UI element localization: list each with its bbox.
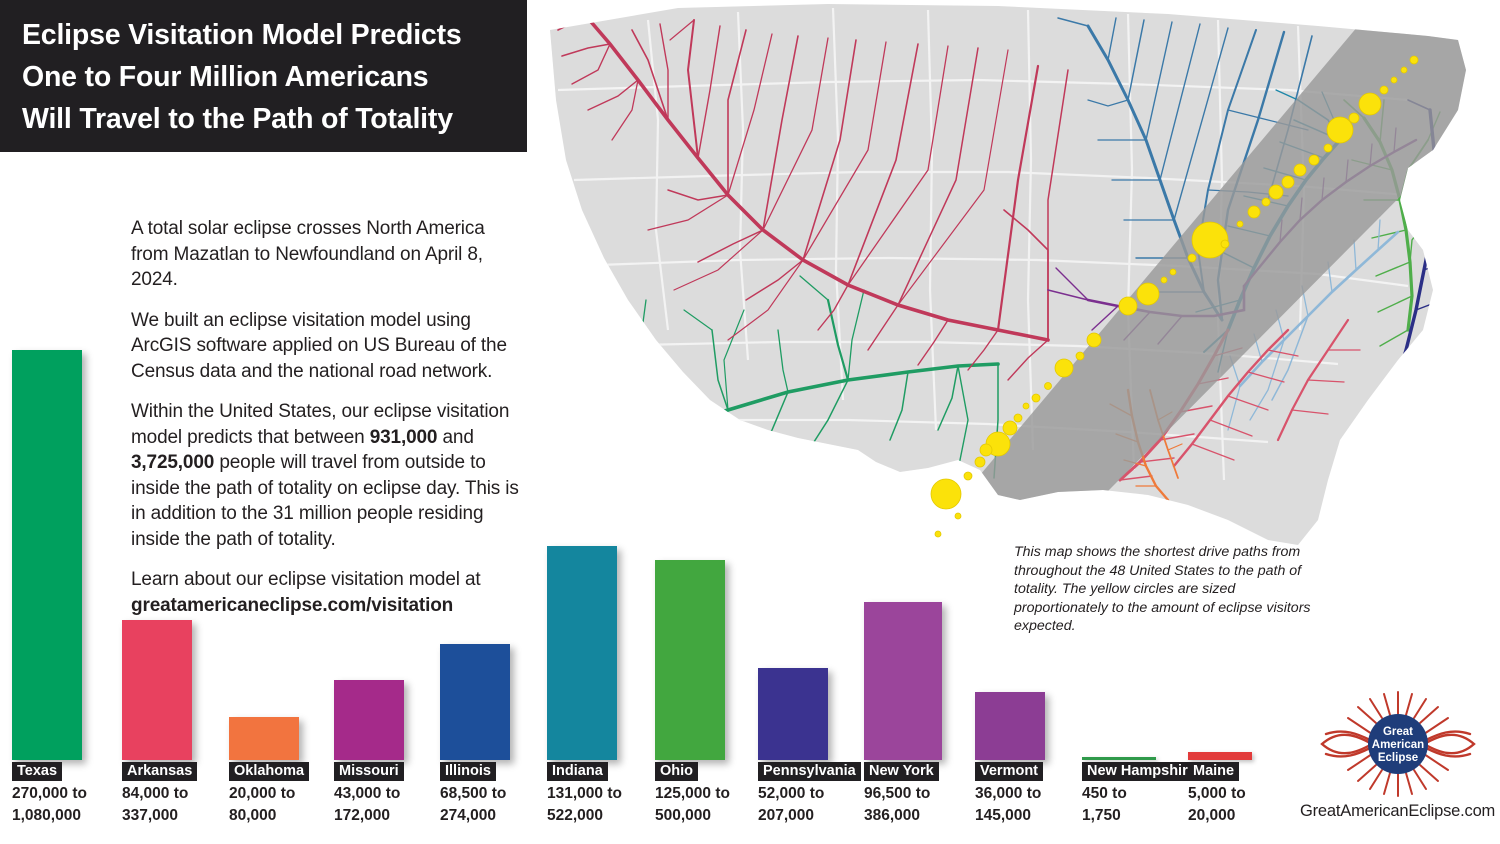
value-low: 43,000 to <box>334 784 404 803</box>
bar-label-ohio: Ohio125,000 to500,000 <box>655 762 730 825</box>
state-name-chip: Oklahoma <box>229 762 309 781</box>
eclipse-sun-logo-icon: Great American Eclipse <box>1318 688 1478 800</box>
value-low: 36,000 to <box>975 784 1043 803</box>
value-low: 52,000 to <box>758 784 861 803</box>
value-high: 80,000 <box>229 806 309 825</box>
map-caption: This map shows the shortest drive paths … <box>1014 543 1314 636</box>
value-low: 125,000 to <box>655 784 730 803</box>
value-low: 84,000 to <box>122 784 197 803</box>
state-name-chip: Pennsylvania <box>758 762 861 781</box>
bar-label-maine: Maine5,000 to20,000 <box>1188 762 1246 825</box>
bar-missouri <box>334 680 404 760</box>
value-high: 500,000 <box>655 806 730 825</box>
value-low: 68,500 to <box>440 784 506 803</box>
value-high: 337,000 <box>122 806 197 825</box>
state-name-chip: New York <box>864 762 939 781</box>
value-low: 450 to <box>1082 784 1201 803</box>
bar-new-hampshire <box>1082 757 1156 760</box>
bar-label-new-york: New York96,500 to386,000 <box>864 762 939 825</box>
value-high: 145,000 <box>975 806 1043 825</box>
state-name-chip: Illinois <box>440 762 496 781</box>
state-name-chip: Missouri <box>334 762 404 781</box>
value-low: 5,000 to <box>1188 784 1246 803</box>
value-high: 1,080,000 <box>12 806 87 825</box>
value-high: 522,000 <box>547 806 622 825</box>
bar-label-indiana: Indiana131,000 to522,000 <box>547 762 622 825</box>
value-low: 270,000 to <box>12 784 87 803</box>
logo-word-american: American <box>1371 739 1423 751</box>
bar-label-oklahoma: Oklahoma20,000 to80,000 <box>229 762 309 825</box>
infographic-root: Eclipse Visitation Model Predicts One to… <box>0 0 1500 844</box>
bar-illinois <box>440 644 510 760</box>
bar-oklahoma <box>229 717 299 760</box>
logo-word-great: Great <box>1382 726 1412 738</box>
bar-label-missouri: Missouri43,000 to172,000 <box>334 762 404 825</box>
logo-word-eclipse: Eclipse <box>1377 752 1417 764</box>
value-high: 386,000 <box>864 806 939 825</box>
state-name-chip: Ohio <box>655 762 698 781</box>
value-high: 20,000 <box>1188 806 1246 825</box>
map-svg <box>528 0 1500 620</box>
value-low: 96,500 to <box>864 784 939 803</box>
bar-texas <box>12 350 82 760</box>
value-high: 274,000 <box>440 806 506 825</box>
state-name-chip: Maine <box>1188 762 1239 781</box>
value-high: 1,750 <box>1082 806 1201 825</box>
state-name-chip: Vermont <box>975 762 1043 781</box>
bar-label-texas: Texas270,000 to1,080,000 <box>12 762 87 825</box>
bar-label-illinois: Illinois68,500 to274,000 <box>440 762 506 825</box>
state-name-chip: New Hampshire <box>1082 762 1201 781</box>
brand-logo[interactable]: Great American Eclipse GreatAmericanEcli… <box>1300 688 1495 830</box>
bar-label-pennsylvania: Pennsylvania52,000 to207,000 <box>758 762 861 825</box>
state-name-chip: Texas <box>12 762 62 781</box>
drive-paths-map <box>528 0 1500 620</box>
bar-label-new-hampshire: New Hampshire450 to1,750 <box>1082 762 1201 825</box>
bar-arkansas <box>122 620 192 760</box>
bar-pennsylvania <box>758 668 828 760</box>
bar-vermont <box>975 692 1045 760</box>
bar-maine <box>1188 752 1252 760</box>
bar-new-york <box>864 602 942 760</box>
bar-label-vermont: Vermont36,000 to145,000 <box>975 762 1043 825</box>
state-name-chip: Indiana <box>547 762 608 781</box>
value-low: 20,000 to <box>229 784 309 803</box>
value-low: 131,000 to <box>547 784 622 803</box>
value-high: 172,000 <box>334 806 404 825</box>
logo-caption[interactable]: GreatAmericanEclipse.com <box>1300 802 1495 821</box>
value-high: 207,000 <box>758 806 861 825</box>
state-name-chip: Arkansas <box>122 762 197 781</box>
bar-label-arkansas: Arkansas84,000 to337,000 <box>122 762 197 825</box>
